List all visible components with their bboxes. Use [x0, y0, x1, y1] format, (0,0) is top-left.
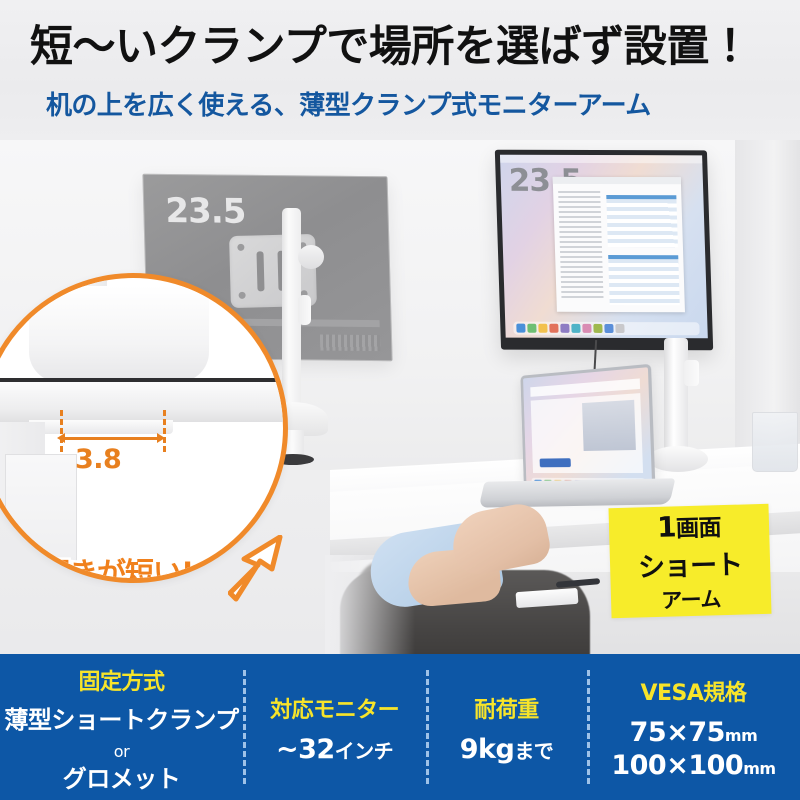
spec-header-mounting: 固定方式 [78, 664, 164, 696]
badge-line1-text: 画面 [676, 515, 722, 542]
screen-document-window [553, 177, 685, 312]
laptop-site-body [531, 393, 643, 473]
window-titlebar [553, 177, 681, 184]
arm-cable-clip [684, 360, 699, 386]
laptop-keyboard-base [479, 478, 676, 507]
laptop-screen [520, 364, 655, 498]
spec-value-vesa: 75×75mm 100×100mm [611, 717, 775, 783]
badge-number: 1 [657, 510, 677, 544]
vesa-hole-icon [239, 292, 246, 299]
spec-value-mounting: 薄型ショートクランプ or グロメット [4, 706, 238, 794]
spec-monitor-size-unit: インチ [335, 739, 394, 763]
dock-icon [593, 324, 602, 333]
spec-column-load-capacity: 耐荷重 9kgまで [426, 654, 587, 800]
product-advertisement-page: 短〜いクランプで場所を選ばず設置！ 机の上を広く使える、薄型クランプ式モニターア… [0, 0, 800, 800]
badge-line-3: アーム [661, 583, 721, 615]
laptop-site-button [540, 458, 571, 467]
laptop-site-image [582, 400, 636, 451]
page-title: 短〜いクランプで場所を選ばず設置！ [30, 23, 775, 72]
badge-line-2: ショート [638, 542, 743, 584]
callout-clamp-body [29, 286, 209, 382]
spec-vesa-line2-number: 100×100 [611, 750, 743, 781]
single-screen-badge: 1画面 ショート アーム [608, 504, 771, 618]
headline-section: 短〜いクランプで場所を選ばず設置！ 机の上を広く使える、薄型クランプ式モニターア… [0, 0, 800, 145]
spec-column-vesa: VESA規格 75×75mm 100×100mm [587, 654, 800, 800]
dimension-arrow-left-icon [57, 433, 65, 443]
dimension-arrow-right-icon [157, 433, 165, 443]
badge-line-1: 1画面 [657, 508, 722, 544]
vesa-hole-icon [237, 244, 244, 251]
callout-desk-slab [0, 382, 288, 422]
dock-icon [615, 324, 624, 333]
spec-vesa-line1-number: 75×75 [630, 717, 725, 748]
callout-clamp-underplate [29, 420, 173, 434]
spec-vesa-line1-unit: mm [725, 726, 757, 745]
arm-joint-render [298, 245, 324, 269]
spec-header-load-capacity: 耐荷重 [474, 692, 539, 724]
dimension-extension-left [60, 410, 63, 452]
dock-icon [560, 324, 569, 333]
dimension-value-label: 3.8 [75, 444, 121, 475]
desk-glass [752, 412, 798, 472]
spec-column-mounting: 固定方式 薄型ショートクランプ or グロメット [0, 654, 243, 800]
spec-column-monitor-size: 対応モニター ~32インチ [243, 654, 426, 800]
spec-header-vesa: VESA規格 [640, 675, 746, 707]
dock-icon [516, 324, 525, 333]
dock-icon [582, 324, 591, 333]
window-table-lower [608, 255, 680, 305]
dock-icon [549, 324, 558, 333]
monitor-screen: 23.5 [500, 155, 708, 339]
window-table-upper [606, 195, 678, 247]
page-subtitle: 机の上を広く使える、薄型クランプ式モニターアーム [46, 92, 766, 122]
spec-mounting-or: or [114, 742, 129, 761]
spec-mounting-line2: グロメット [63, 765, 181, 793]
monitor-left-size-label: 23.5 [165, 191, 246, 232]
spec-monitor-size-number: ~32 [276, 734, 335, 765]
screen-dock [513, 322, 700, 336]
dock-icon [538, 324, 547, 333]
spec-value-monitor-size: ~32インチ [276, 734, 393, 767]
dimension-line [61, 437, 161, 440]
spec-load-number: 9kg [460, 734, 515, 765]
window-text-column [558, 191, 603, 301]
spec-load-unit: まで [514, 739, 553, 763]
arm-clamp-base-photo [648, 446, 708, 472]
spec-value-load-capacity: 9kgまで [460, 734, 554, 767]
arm-knob-render [298, 295, 311, 325]
spec-mounting-line1: 薄型ショートクランプ [4, 706, 238, 734]
dock-icon [571, 324, 580, 333]
monitor-front-photo: 23.5 [495, 150, 713, 351]
monitor-vent-right [320, 335, 380, 352]
spec-header-monitor-size: 対応モニター [270, 692, 399, 724]
arm-pole-photo [664, 338, 688, 460]
dock-icon [527, 324, 536, 333]
spec-vesa-line2-unit: mm [743, 759, 775, 778]
dimension-extension-right [163, 410, 166, 452]
spec-bar: 固定方式 薄型ショートクランプ or グロメット 対応モニター ~32インチ 耐… [0, 654, 800, 800]
dock-icon [604, 324, 613, 333]
